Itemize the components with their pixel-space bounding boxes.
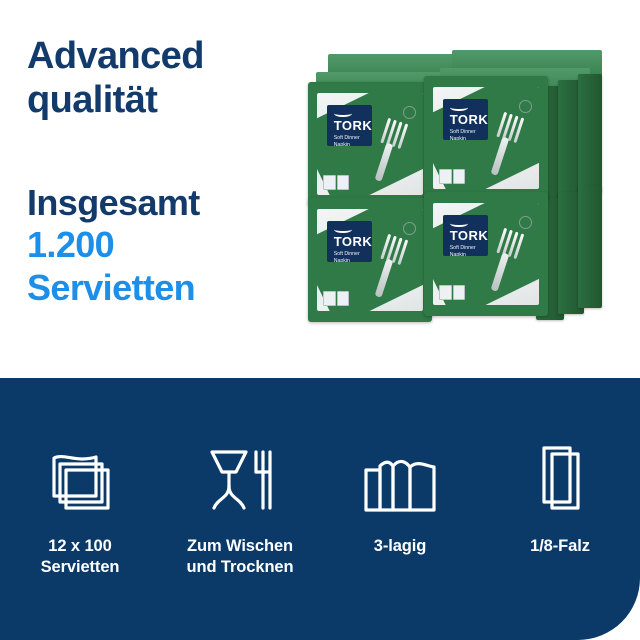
certification-chip: [337, 175, 349, 190]
carton-window: TORK Soft Dinner Napkin Soft and silky f…: [317, 93, 424, 195]
feature-item-1-8-falz: 1/8-Falz: [480, 434, 640, 579]
carton-brand-label: TORK Soft Dinner Napkin Soft and silky f…: [327, 221, 372, 262]
certification-chips: [323, 175, 349, 190]
subheadline-amount: 1.200: [27, 224, 317, 266]
product-image: TORK Soft Dinner Napkin Soft and silky f…: [300, 48, 630, 348]
certification-chips: [439, 285, 465, 300]
brand-name: TORK: [334, 235, 368, 248]
feature-item-wischen-trocknen: Zum Wischen und Trocknen: [160, 434, 320, 579]
certification-chip: [323, 175, 335, 190]
product-marketing-banner: Advanced qualität Insgesamt 1.200 Servie…: [0, 0, 640, 640]
tork-swoosh-icon: [334, 226, 352, 234]
carton-front-top-right: TORK Soft Dinner Napkin Soft and silky f…: [424, 76, 548, 200]
certification-chip: [337, 291, 349, 306]
tork-swoosh-icon: [450, 220, 468, 228]
eighth-fold-napkin-icon: [522, 434, 598, 518]
feature-caption: 3-lagig: [374, 536, 426, 557]
product-name: Soft Dinner Napkin: [450, 129, 484, 140]
headline-line-1: Advanced: [27, 34, 297, 78]
subheadline-unit: Servietten: [27, 267, 317, 309]
headline-line-2: qualität: [27, 78, 297, 122]
carton-window: TORK Soft Dinner Napkin Soft and silky f…: [317, 209, 424, 311]
brand-name: TORK: [334, 119, 368, 132]
three-ply-layers-icon: [360, 434, 440, 518]
tork-swoosh-icon: [450, 104, 468, 112]
carton-side-face-lower-3: [578, 186, 602, 308]
brand-name: TORK: [450, 229, 484, 242]
feature-item-servietten: 12 x 100 Servietten: [0, 434, 160, 579]
feature-caption: 12 x 100 Servietten: [41, 536, 120, 579]
subheadline-total-label: Insgesamt: [27, 182, 317, 224]
tork-swoosh-icon: [334, 110, 352, 118]
carton-brand-label: TORK Soft Dinner Napkin Soft and silky f…: [327, 105, 372, 146]
feature-caption: 1/8-Falz: [530, 536, 590, 557]
feature-panel: 12 x 100 Servietten: [0, 378, 640, 640]
carton-side-face-upper-3: [578, 74, 602, 192]
subheadline-block: Insgesamt 1.200 Servietten: [27, 182, 317, 309]
carton-window: TORK Soft Dinner Napkin Soft and silky f…: [433, 87, 540, 189]
certification-chip: [439, 169, 451, 184]
feature-caption: Zum Wischen und Trocknen: [187, 536, 294, 579]
carton-window: TORK Soft Dinner Napkin Soft and silky f…: [433, 203, 540, 305]
certification-chips: [439, 169, 465, 184]
brand-name: TORK: [450, 113, 484, 126]
carton-front-bottom-left: TORK Soft Dinner Napkin Soft and silky f…: [308, 198, 432, 322]
product-name: Soft Dinner Napkin: [450, 245, 484, 256]
carton-brand-label: TORK Soft Dinner Napkin Soft and silky f…: [443, 215, 488, 256]
product-name: Soft Dinner Napkin: [334, 251, 368, 262]
carton-front-bottom-right: TORK Soft Dinner Napkin Soft and silky f…: [424, 192, 548, 316]
carton-stack: TORK Soft Dinner Napkin Soft and silky f…: [300, 48, 630, 348]
stacked-napkins-icon: [42, 434, 118, 518]
upper-white-section: Advanced qualität Insgesamt 1.200 Servie…: [0, 0, 640, 378]
product-name: Soft Dinner Napkin: [334, 135, 368, 146]
glass-and-fork-food-safe-icon: [202, 434, 278, 518]
certification-chip: [453, 285, 465, 300]
headline-block: Advanced qualität: [27, 34, 297, 123]
certification-chip: [453, 169, 465, 184]
certification-chip: [323, 291, 335, 306]
certification-chips: [323, 291, 349, 306]
feature-item-3-lagig: 3-lagig: [320, 434, 480, 579]
certification-chip: [439, 285, 451, 300]
carton-front-top-left: TORK Soft Dinner Napkin Soft and silky f…: [308, 82, 432, 206]
feature-list: 12 x 100 Servietten: [0, 434, 640, 579]
carton-brand-label: TORK Soft Dinner Napkin Soft and silky f…: [443, 99, 488, 140]
